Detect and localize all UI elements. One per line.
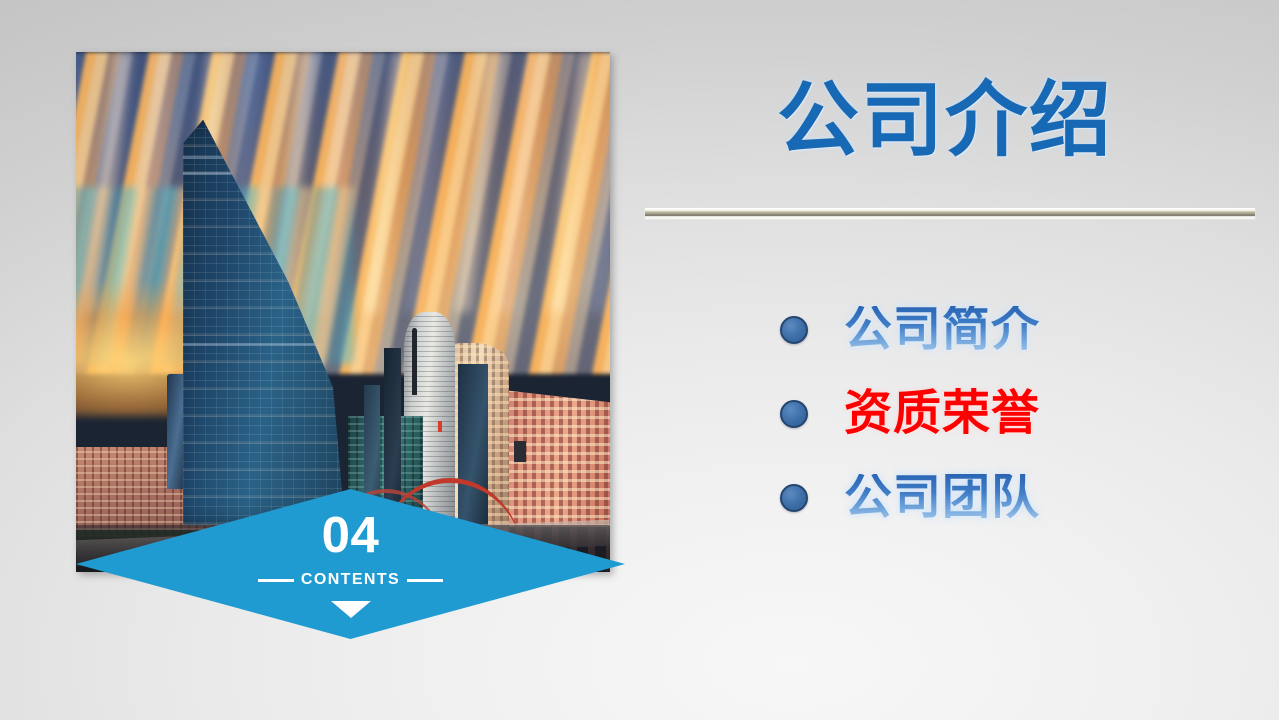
presentation-slide: 04 CONTENTS 公司介绍 公司简介 资质荣誉 公司团队 xyxy=(0,0,1279,720)
agenda-item-label: 公司团队 xyxy=(844,474,1040,522)
list-item[interactable]: 公司团队 xyxy=(780,456,1250,540)
circle-bullet-icon xyxy=(780,484,808,512)
dash-left-icon xyxy=(258,579,294,582)
agenda-list: 公司简介 资质荣誉 公司团队 xyxy=(780,288,1250,540)
agenda-item-label: 资质荣誉 xyxy=(844,390,1040,438)
circle-bullet-icon xyxy=(780,400,808,428)
dash-right-icon xyxy=(407,579,443,582)
triangle-down-icon xyxy=(331,601,371,618)
section-number: 04 xyxy=(322,509,380,560)
agenda-item-label: 公司简介 xyxy=(844,306,1040,354)
list-item[interactable]: 公司简介 xyxy=(780,288,1250,372)
circle-bullet-icon xyxy=(780,316,808,344)
contents-label-row: CONTENTS xyxy=(258,571,443,589)
page-title: 公司介绍 xyxy=(640,78,1250,164)
list-item[interactable]: 资质荣誉 xyxy=(780,372,1250,456)
title-divider xyxy=(645,208,1255,218)
contents-label: CONTENTS xyxy=(301,571,400,589)
